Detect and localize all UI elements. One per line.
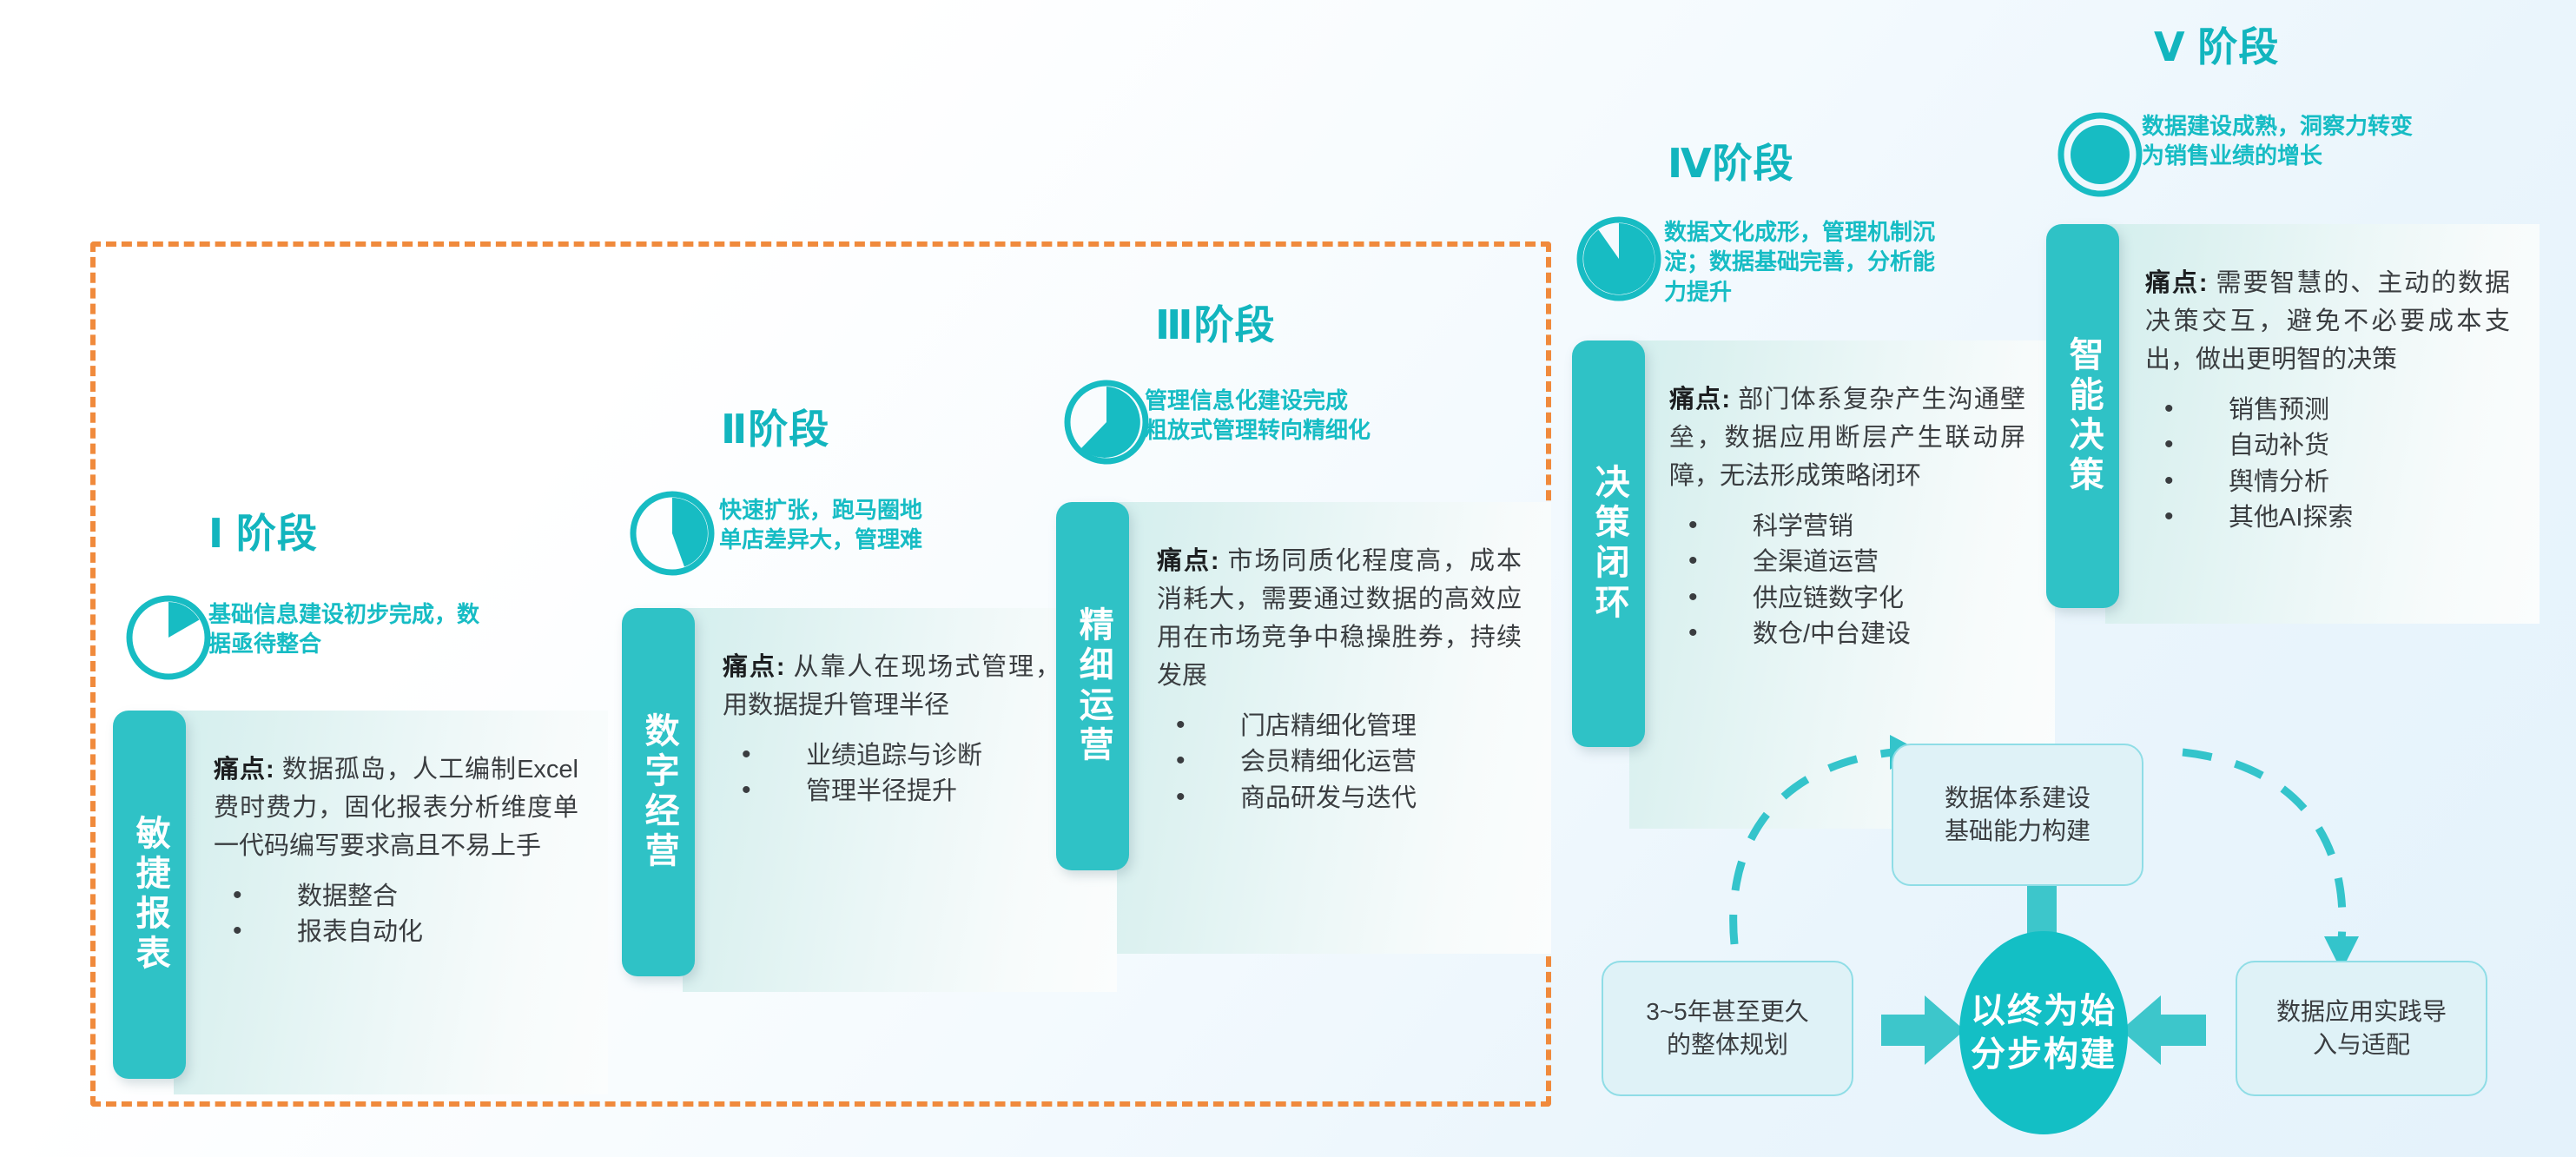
stage-1-headline: 基础信息建设初步完成，数 据亟待整合	[208, 599, 582, 659]
stage-5-tab[interactable]: 智能决策	[2046, 224, 2119, 608]
stage-2-tab[interactable]: 数字经营	[622, 608, 695, 976]
pie-icon-full	[2055, 109, 2145, 200]
stage-5-card: 痛点: 需要智慧的、主动的数据决策交互，避免不必要成本支出，做出更明智的决策 销…	[2105, 224, 2540, 624]
list-item: 自动补货	[2145, 428, 2510, 464]
stage-2-tab-label: 数字经营	[637, 712, 678, 872]
stage-1-card: 痛点: 数据孤岛，人工编制Excel费时费力，固化报表分析维度单一代码编写要求高…	[174, 711, 608, 1094]
stage-3-title: Ⅲ阶段	[1155, 294, 1275, 351]
stage-2-headline: 快速扩张，跑马圈地 单店差异大，管理难	[719, 495, 1101, 555]
stage-5-tab-label: 智能决策	[2062, 336, 2103, 496]
stage-3-headline: 管理信息化建设完成 粗放式管理转向精细化	[1145, 386, 1544, 446]
stage-2-bullets: 业绩追踪与诊断 管理半径提升	[723, 738, 1087, 810]
stage-4-headline: 数据文化成形，管理机制沉 淀；数据基础完善，分析能 力提升	[1664, 217, 2055, 307]
stage-2-pain-label: 痛点:	[723, 653, 785, 681]
cycle-left-box: 3~5年甚至更久 的整体规划	[1602, 961, 1853, 1096]
stage-1-title: Ⅰ 阶段	[208, 502, 318, 559]
list-item: 门店精细化管理	[1157, 709, 1522, 744]
pie-icon-three-quarter	[1061, 377, 1152, 467]
stage-5-pain: 痛点: 需要智慧的、主动的数据决策交互，避免不必要成本支出，做出更明智的决策	[2145, 264, 2510, 379]
stage-4-tab-label: 决策闭环	[1588, 464, 1628, 624]
pie-icon-almost-full	[1574, 214, 1664, 304]
list-item: 科学营销	[1669, 509, 2025, 545]
stage-1-pain: 痛点: 数据孤岛，人工编制Excel费时费力，固化报表分析维度单一代码编写要求高…	[214, 750, 578, 865]
stage-2-card: 痛点: 从靠人在现场式管理，应用数据提升管理半径 业绩追踪与诊断 管理半径提升	[683, 608, 1117, 992]
stage-5-title: Ⅴ 阶段	[2154, 16, 2279, 73]
cycle-top-box: 数据体系建设 基础能力构建	[1892, 744, 2143, 886]
stage-1-tab-label: 敏捷报表	[129, 815, 169, 975]
stage-2-title: Ⅱ阶段	[721, 398, 829, 455]
stage-3-card: 痛点: 市场同质化程度高，成本消耗大，需要通过数据的高效应用在市场竞争中稳操胜券…	[1117, 502, 1551, 954]
list-item: 舆情分析	[2145, 465, 2510, 500]
stage-4-title: Ⅳ阶段	[1668, 132, 1794, 189]
stage-3-tab-label: 精细运营	[1072, 606, 1113, 766]
stage-5-pain-label: 痛点:	[2145, 269, 2208, 297]
list-item: 供应链数字化	[1669, 581, 2025, 617]
stage-4-tab[interactable]: 决策闭环	[1572, 340, 1645, 747]
stage-3-bullets: 门店精细化管理 会员精细化运营 商品研发与迭代	[1157, 709, 1522, 817]
list-item: 销售预测	[2145, 393, 2510, 428]
stage-3-tab[interactable]: 精细运营	[1056, 502, 1129, 870]
list-item: 其他AI探索	[2145, 500, 2510, 536]
list-item: 数仓/中台建设	[1669, 617, 2025, 652]
list-item: 业绩追踪与诊断	[723, 738, 1087, 774]
stage-4-bullets: 科学营销 全渠道运营 供应链数字化 数仓/中台建设	[1669, 509, 2025, 652]
stage-3-pain: 痛点: 市场同质化程度高，成本消耗大，需要通过数据的高效应用在市场竞争中稳操胜券…	[1157, 542, 1522, 695]
pie-icon-third	[627, 488, 717, 578]
list-item: 会员精细化运营	[1157, 744, 1522, 780]
pie-icon-quarter	[123, 592, 214, 683]
list-item: 报表自动化	[214, 915, 578, 950]
stage-1-pain-label: 痛点:	[214, 756, 274, 783]
stage-2-pain: 痛点: 从靠人在现场式管理，应用数据提升管理半径	[723, 648, 1087, 724]
list-item: 管理半径提升	[723, 774, 1087, 810]
list-item: 商品研发与迭代	[1157, 781, 1522, 817]
stage-5-bullets: 销售预测 自动补货 舆情分析 其他AI探索	[2145, 393, 2510, 536]
stage-5-headline: 数据建设成熟，洞察力转变 为销售业绩的增长	[2142, 111, 2541, 171]
stage-4-pain-label: 痛点:	[1669, 386, 1730, 413]
stage-4-pain: 痛点: 部门体系复杂产生沟通壁垒，数据应用断层产生联动屏障，无法形成策略闭环	[1669, 380, 2025, 495]
stage-1-bullets: 数据整合 报表自动化	[214, 879, 578, 950]
cycle-center-node: 以终为始 分步构建	[1959, 931, 2128, 1134]
stage-3-pain-label: 痛点:	[1157, 547, 1219, 575]
stage-1-tab[interactable]: 敏捷报表	[113, 711, 186, 1079]
cycle-right-box: 数据应用实践导 入与适配	[2236, 961, 2487, 1096]
list-item: 数据整合	[214, 879, 578, 915]
infographic-canvas: Ⅰ 阶段 基础信息建设初步完成，数 据亟待整合 痛点: 数据孤岛，人工编制Exc…	[0, 0, 2576, 1157]
list-item: 全渠道运营	[1669, 545, 2025, 580]
